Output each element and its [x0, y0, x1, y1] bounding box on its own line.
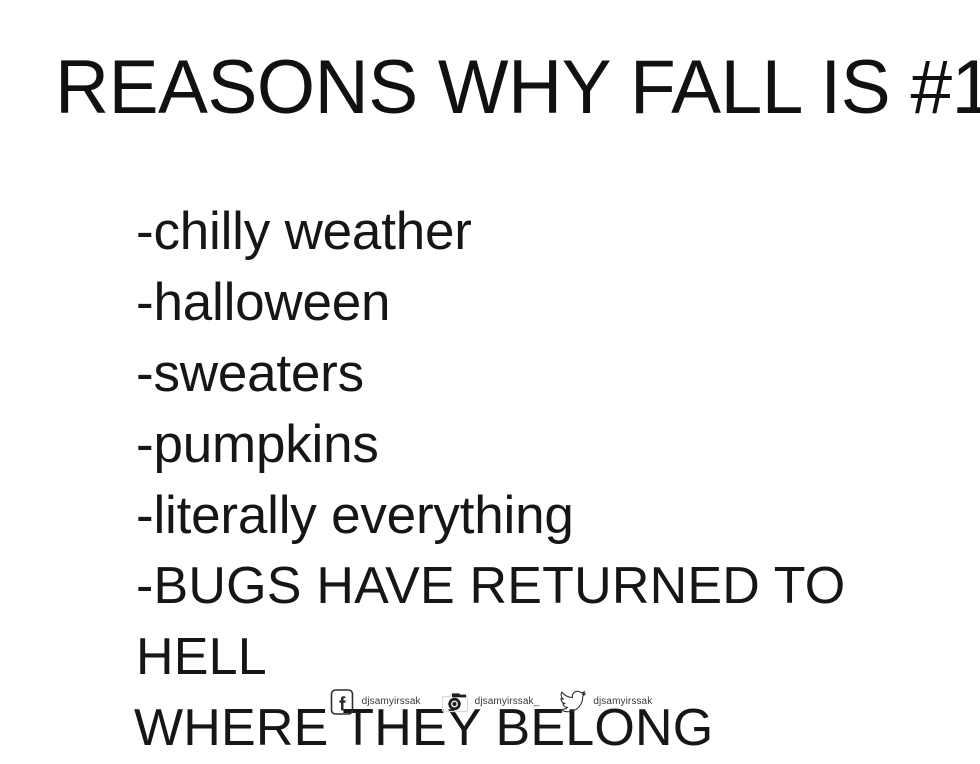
twitter-icon — [559, 688, 587, 716]
instagram-icon — [441, 688, 469, 716]
list-item: -chilly weather — [136, 196, 956, 267]
meme-image: REASONS WHY FALL IS #1: -chilly weather … — [0, 0, 980, 763]
meme-title: REASONS WHY FALL IS #1: — [55, 46, 980, 130]
list-item: -literally everything — [136, 480, 956, 551]
social-entry-instagram: djsamyirssak_ — [441, 688, 540, 716]
list-item: -BUGS HAVE RETURNED TO HELL WHERE THEY B… — [136, 551, 956, 764]
list-item-line-primary: -BUGS HAVE RETURNED TO HELL — [136, 557, 845, 686]
facebook-icon — [328, 688, 356, 716]
list-item: -halloween — [136, 267, 956, 338]
social-entry-twitter: djsamyirssak — [559, 688, 652, 716]
social-handle-instagram: djsamyirssak_ — [475, 696, 540, 708]
social-entry-facebook: djsamyirssak — [328, 688, 421, 716]
list-item: -pumpkins — [136, 409, 956, 480]
reason-list: -chilly weather -halloween -sweaters -pu… — [136, 196, 956, 764]
social-handle-twitter: djsamyirssak — [593, 696, 652, 708]
social-handles-bar: djsamyirssak djsamyirssak_ djsamyirssak — [0, 688, 980, 716]
list-item: -sweaters — [136, 338, 956, 409]
social-handle-facebook: djsamyirssak — [362, 696, 421, 708]
